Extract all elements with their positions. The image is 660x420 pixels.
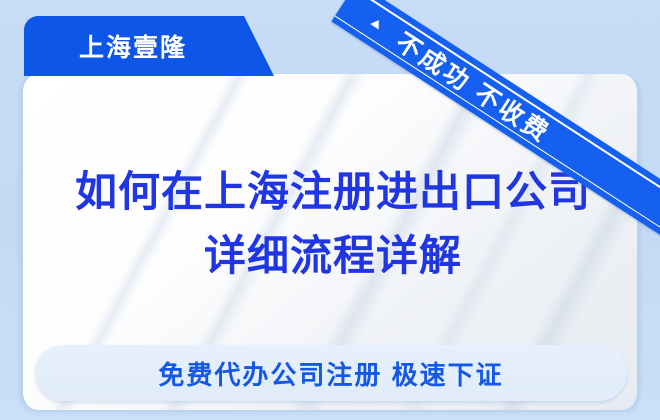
cta-button-label: 免费代办公司注册 极速下证 bbox=[158, 355, 503, 392]
headline-line-2: 详细流程详解 bbox=[23, 224, 640, 288]
promo-banner: 如何在上海注册进出口公司 详细流程详解 免费代办公司注册 极速下证 上海壹隆 不… bbox=[0, 0, 660, 420]
brand-tab[interactable]: 上海壹隆 bbox=[24, 16, 274, 76]
headline-line-1: 如何在上海注册进出口公司 bbox=[23, 160, 640, 224]
cta-button[interactable]: 免费代办公司注册 极速下证 bbox=[35, 345, 627, 401]
brand-tab-label: 上海壹隆 bbox=[24, 16, 242, 76]
headline-block: 如何在上海注册进出口公司 详细流程详解 bbox=[23, 160, 640, 288]
triangle-up-icon bbox=[371, 17, 384, 29]
